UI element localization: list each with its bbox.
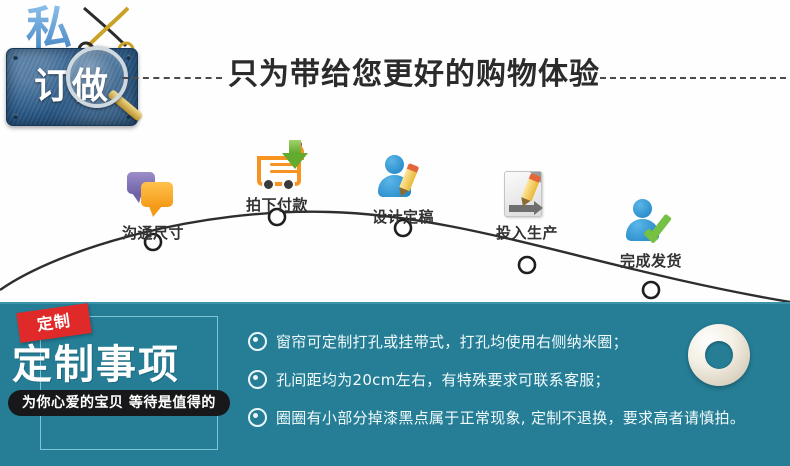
step-2-label: 拍下付款 <box>217 194 337 215</box>
plate-screw-bl <box>13 114 18 119</box>
notes-list: 窗帘可定制打孔或挂带式，打孔均使用右侧纳米圈； 孔间距均为20cm左右，有特殊要… <box>248 322 708 436</box>
radio-bullet-icon <box>248 408 267 427</box>
step-3[interactable]: 设计定稿 <box>343 152 463 227</box>
step-1[interactable]: 沟通尺寸 <box>93 168 213 243</box>
page-title: 只为带给您更好的购物体验 <box>228 52 592 98</box>
panel-subtitle: 为你心爱的宝贝 等待是值得的 <box>8 390 230 416</box>
list-item-text: 孔间距均为20cm左右，有特殊要求可联系客服； <box>276 369 610 390</box>
step-5-label: 完成发货 <box>591 250 711 271</box>
person-head <box>385 155 404 174</box>
arrow-head <box>282 153 308 169</box>
check-mark-icon <box>645 212 675 242</box>
chat-bubble-orange <box>141 182 173 207</box>
person-check-icon <box>625 196 677 248</box>
cart-line-2 <box>270 170 300 173</box>
promo-banner: 私 订做 只为带给您更好的购物体验 <box>0 0 790 466</box>
chat-bubbles-icon <box>127 168 179 220</box>
step-5[interactable]: 完成发货 <box>591 196 711 271</box>
list-item: 孔间距均为20cm左右，有特殊要求可联系客服； <box>248 360 708 398</box>
step-4-label: 投入生产 <box>467 222 587 243</box>
step-3-label: 设计定稿 <box>343 206 463 227</box>
cart-wheel-right <box>282 178 295 191</box>
dashed-line-right <box>600 77 786 79</box>
step-1-label: 沟通尺寸 <box>93 222 213 243</box>
custom-notes-panel: 定制 定制事项 为你心爱的宝贝 等待是值得的 窗帘可定制打孔或挂带式，打孔均使用… <box>0 302 790 466</box>
person-pencil-icon <box>377 152 429 204</box>
panel-title: 定制事项 <box>12 332 232 390</box>
check-stroke-long <box>651 214 672 238</box>
step-4[interactable]: 投入生产 <box>467 168 587 243</box>
shopping-cart-download-icon <box>251 140 303 192</box>
dashed-line-left <box>122 77 222 79</box>
list-item-text: 窗帘可定制打孔或挂带式，打孔均使用右侧纳米圈； <box>276 331 628 352</box>
grommet-ring-photo <box>688 324 750 386</box>
list-item-text: 圈圈有小部分掉漆黑点属于正常现象, 定制不退换，要求高者请慎拍。 <box>276 407 745 428</box>
list-item: 圈圈有小部分掉漆黑点属于正常现象, 定制不退换，要求高者请慎拍。 <box>248 398 708 436</box>
list-item: 窗帘可定制打孔或挂带式，打孔均使用右侧纳米圈； <box>248 322 708 360</box>
header: 只为带给您更好的购物体验 <box>0 52 790 104</box>
arrow-stem <box>289 140 301 154</box>
top-section: 私 订做 只为带给您更好的购物体验 <box>0 0 790 302</box>
cart-wheel-left <box>262 178 275 191</box>
radio-bullet-icon <box>248 332 267 351</box>
step-2[interactable]: 拍下付款 <box>217 140 337 215</box>
panel-top-strip <box>0 302 790 304</box>
document-pencil-icon <box>501 168 553 220</box>
radio-bullet-icon <box>248 370 267 389</box>
